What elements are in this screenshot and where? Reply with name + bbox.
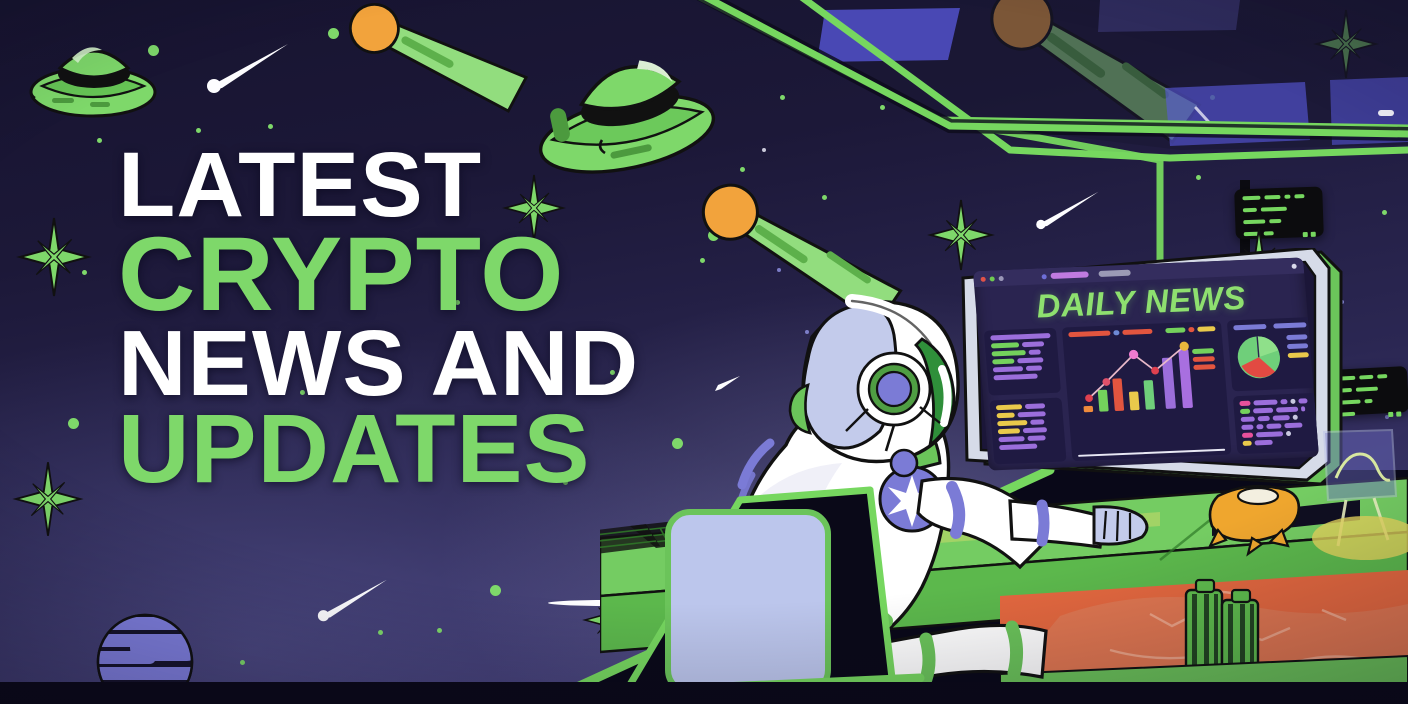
chart-legend [1192, 348, 1216, 370]
pie-chart [1234, 333, 1284, 386]
window-min-dot[interactable] [989, 276, 994, 281]
menu-dot[interactable] [1291, 263, 1296, 268]
search-field[interactable] [1098, 270, 1130, 277]
window-close-dot[interactable] [980, 276, 985, 281]
desk-items [1160, 430, 1408, 610]
poster-canvas: LATEST CRYPTO NEWS AND UPDATES [0, 0, 1408, 704]
address-bar[interactable] [1050, 271, 1088, 279]
headline-line-4: UPDATES [118, 401, 639, 497]
pilot-chair [620, 480, 1040, 704]
window-max-dot[interactable] [998, 275, 1003, 280]
foreground-base [0, 682, 1408, 704]
tab-favicon [1041, 274, 1046, 279]
pie-panel [1227, 317, 1318, 391]
page-title: LATEST CRYPTO NEWS AND UPDATES [118, 140, 629, 497]
